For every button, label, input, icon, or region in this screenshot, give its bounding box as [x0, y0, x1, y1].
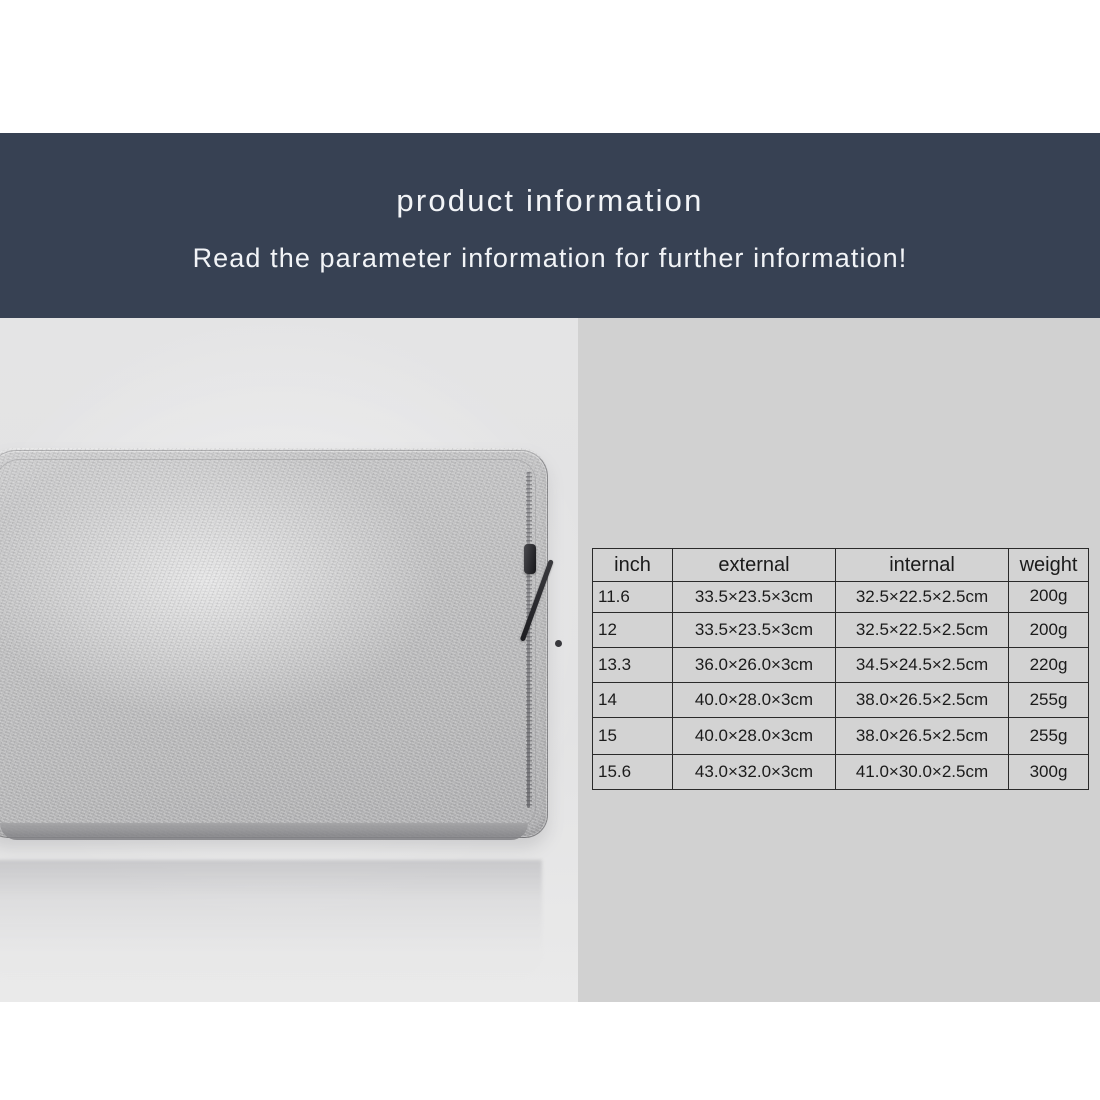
cell-weight: 255g — [1009, 683, 1089, 718]
cell-external: 43.0×32.0×3cm — [673, 755, 836, 790]
top-margin — [0, 0, 1100, 133]
cell-external: 33.5×23.5×3cm — [673, 613, 836, 648]
laptop-sleeve-image — [0, 448, 548, 860]
zipper-teeth — [526, 472, 532, 808]
banner-subtitle: Read the parameter information for furth… — [193, 244, 908, 274]
cell-internal: 34.5×24.5×2.5cm — [836, 648, 1009, 683]
product-information-page: product information Read the parameter i… — [0, 0, 1100, 1100]
page-title: product information — [396, 184, 703, 218]
table-row: 13.3 36.0×26.0×3cm 34.5×24.5×2.5cm 220g — [593, 648, 1089, 683]
banner: product information Read the parameter i… — [0, 133, 1100, 318]
cell-inch: 12 — [593, 613, 673, 648]
cell-weight: 200g — [1009, 613, 1089, 648]
table-row: 15 40.0×28.0×3cm 38.0×26.5×2.5cm 255g — [593, 718, 1089, 755]
cell-internal: 32.5×22.5×2.5cm — [836, 613, 1009, 648]
specification-panel: inch external internal weight 11.6 33.5×… — [578, 318, 1100, 1002]
table-row: 11.6 33.5×23.5×3cm 32.5×22.5×2.5cm 200g — [593, 582, 1089, 613]
table-row: 12 33.5×23.5×3cm 32.5×22.5×2.5cm 200g — [593, 613, 1089, 648]
cell-weight: 300g — [1009, 755, 1089, 790]
product-photo-panel — [0, 318, 578, 1002]
cell-external: 40.0×28.0×3cm — [673, 718, 836, 755]
column-header-inch: inch — [593, 549, 673, 582]
cell-external: 40.0×28.0×3cm — [673, 683, 836, 718]
cell-inch: 14 — [593, 683, 673, 718]
cell-inch: 13.3 — [593, 648, 673, 683]
cell-internal: 41.0×30.0×2.5cm — [836, 755, 1009, 790]
column-header-internal: internal — [836, 549, 1009, 582]
table-row: 15.6 43.0×32.0×3cm 41.0×30.0×2.5cm 300g — [593, 755, 1089, 790]
cell-weight: 220g — [1009, 648, 1089, 683]
cell-internal: 38.0×26.5×2.5cm — [836, 683, 1009, 718]
cell-weight: 255g — [1009, 718, 1089, 755]
cell-weight: 200g — [1009, 582, 1089, 613]
sleeve-seam — [0, 459, 536, 827]
content-area: inch external internal weight 11.6 33.5×… — [0, 318, 1100, 1002]
column-header-weight: weight — [1009, 549, 1089, 582]
cell-inch: 11.6 — [593, 582, 673, 613]
cell-inch: 15 — [593, 718, 673, 755]
zipper-slider — [524, 544, 536, 574]
table-header-row: inch external internal weight — [593, 549, 1089, 582]
cell-external: 36.0×26.0×3cm — [673, 648, 836, 683]
sleeve-base-shadow — [0, 823, 528, 840]
product-reflection — [0, 860, 542, 980]
column-header-external: external — [673, 549, 836, 582]
cell-internal: 32.5×22.5×2.5cm — [836, 582, 1009, 613]
zipper-pull-tip — [555, 640, 562, 647]
cell-inch: 15.6 — [593, 755, 673, 790]
cell-external: 33.5×23.5×3cm — [673, 582, 836, 613]
bottom-margin — [0, 1002, 1100, 1100]
table-row: 14 40.0×28.0×3cm 38.0×26.5×2.5cm 255g — [593, 683, 1089, 718]
specification-table: inch external internal weight 11.6 33.5×… — [592, 548, 1089, 790]
sleeve-body — [0, 448, 548, 838]
cell-internal: 38.0×26.5×2.5cm — [836, 718, 1009, 755]
